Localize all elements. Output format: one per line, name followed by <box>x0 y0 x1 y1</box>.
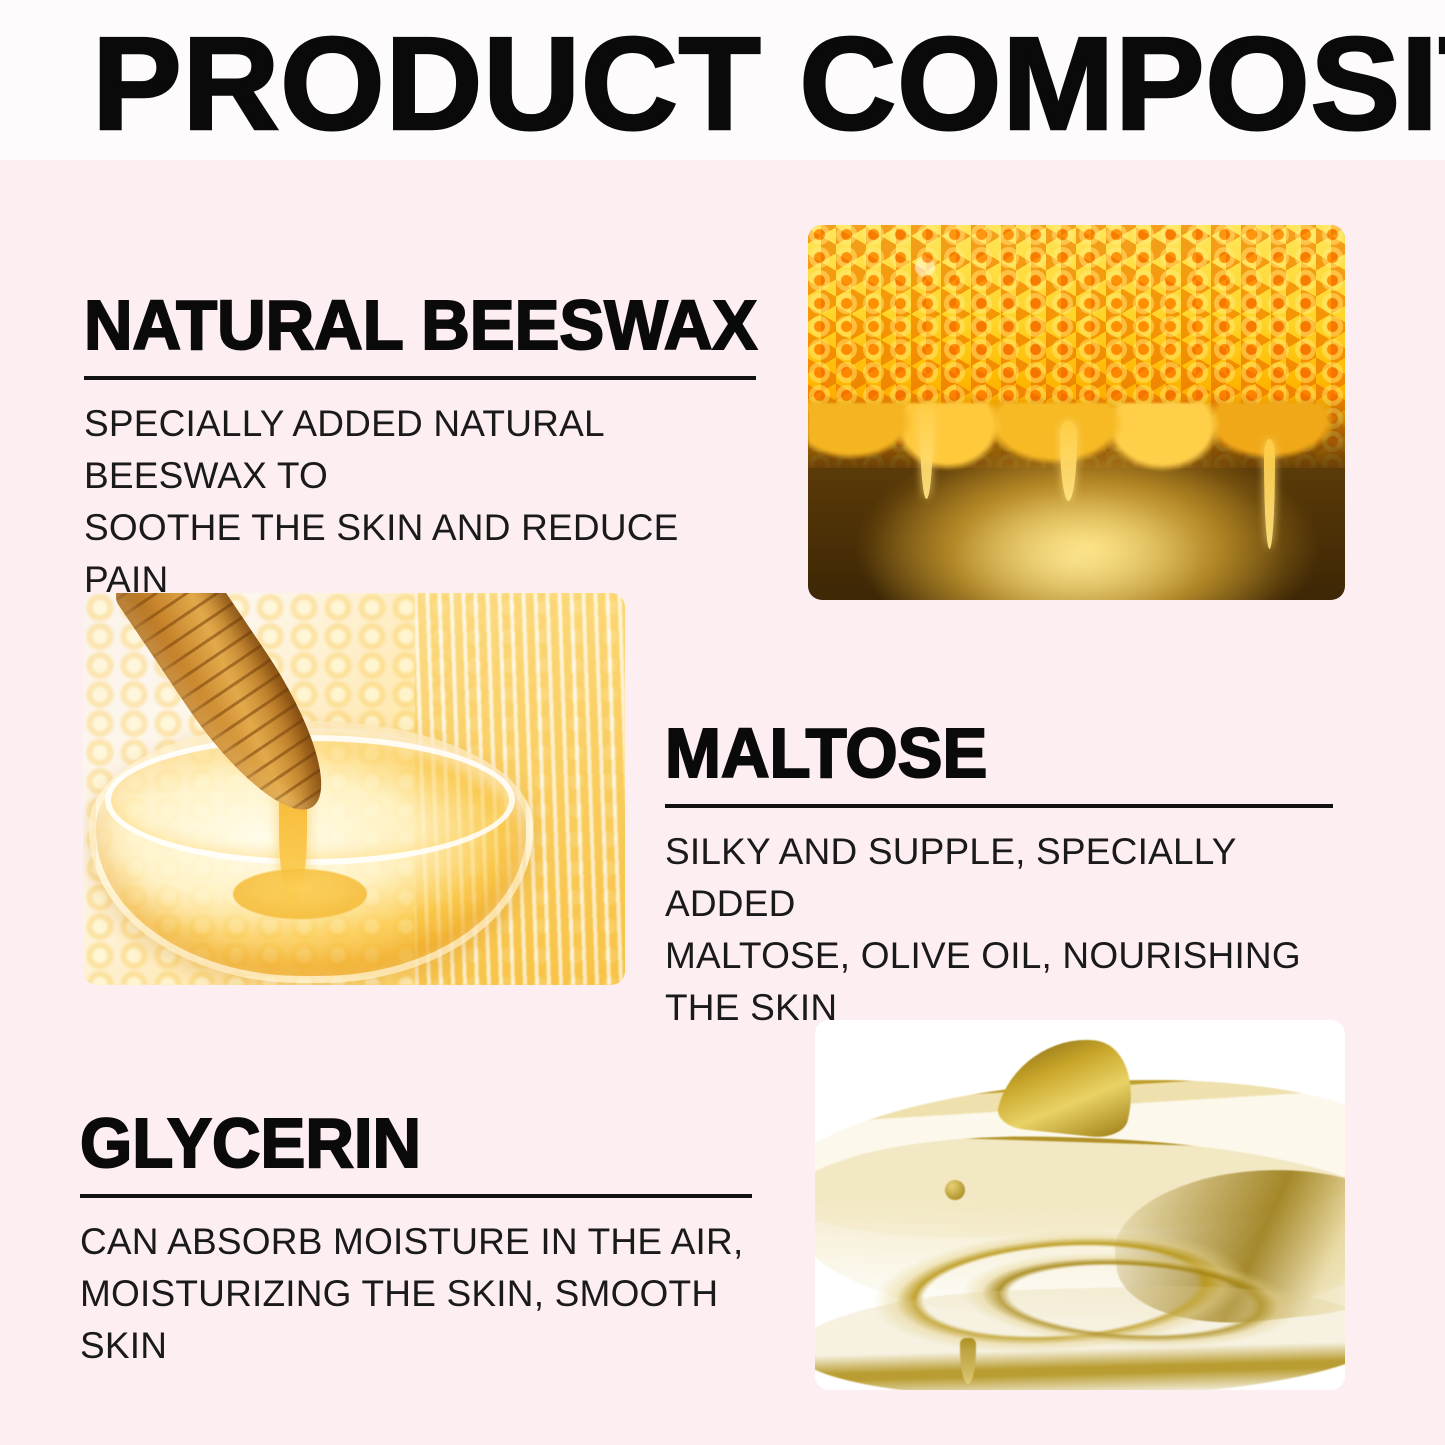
section-glycerin-body: CAN ABSORB MOISTURE IN THE AIR, MOISTURI… <box>80 1216 752 1372</box>
oil-droplet-icon <box>945 1180 965 1200</box>
section-glycerin-heading: GLYCERIN <box>80 1108 725 1178</box>
section-maltose-body: SILKY AND SUPPLE, SPECIALLY ADDED MALTOS… <box>665 826 1333 1034</box>
section-beeswax-body: SPECIALLY ADDED NATURAL BEESWAX TO SOOTH… <box>84 398 756 606</box>
section-maltose-divider <box>665 804 1333 808</box>
section-glycerin: GLYCERIN CAN ABSORB MOISTURE IN THE AIR,… <box>80 1108 752 1372</box>
section-maltose-heading: MALTOSE <box>665 718 1306 788</box>
golden-oil-flow-photo <box>815 1020 1345 1390</box>
section-beeswax: NATURAL BEESWAX SPECIALLY ADDED NATURAL … <box>84 290 756 606</box>
oil-peak <box>994 1032 1147 1140</box>
honey-pool <box>233 869 367 919</box>
section-glycerin-divider <box>80 1194 752 1198</box>
honey-dipper-glass-bowl-photo <box>83 593 625 985</box>
section-maltose: MALTOSE SILKY AND SUPPLE, SPECIALLY ADDE… <box>665 718 1333 1034</box>
honeycomb-dripping-honey-photo <box>808 225 1345 600</box>
section-beeswax-heading: NATURAL BEESWAX <box>84 290 729 360</box>
product-composition-poster: PRODUCT COMPOSITION NATURAL BEESWAX SPEC… <box>0 0 1445 1445</box>
page-title: PRODUCT COMPOSITION <box>92 14 1408 154</box>
section-beeswax-divider <box>84 376 756 380</box>
